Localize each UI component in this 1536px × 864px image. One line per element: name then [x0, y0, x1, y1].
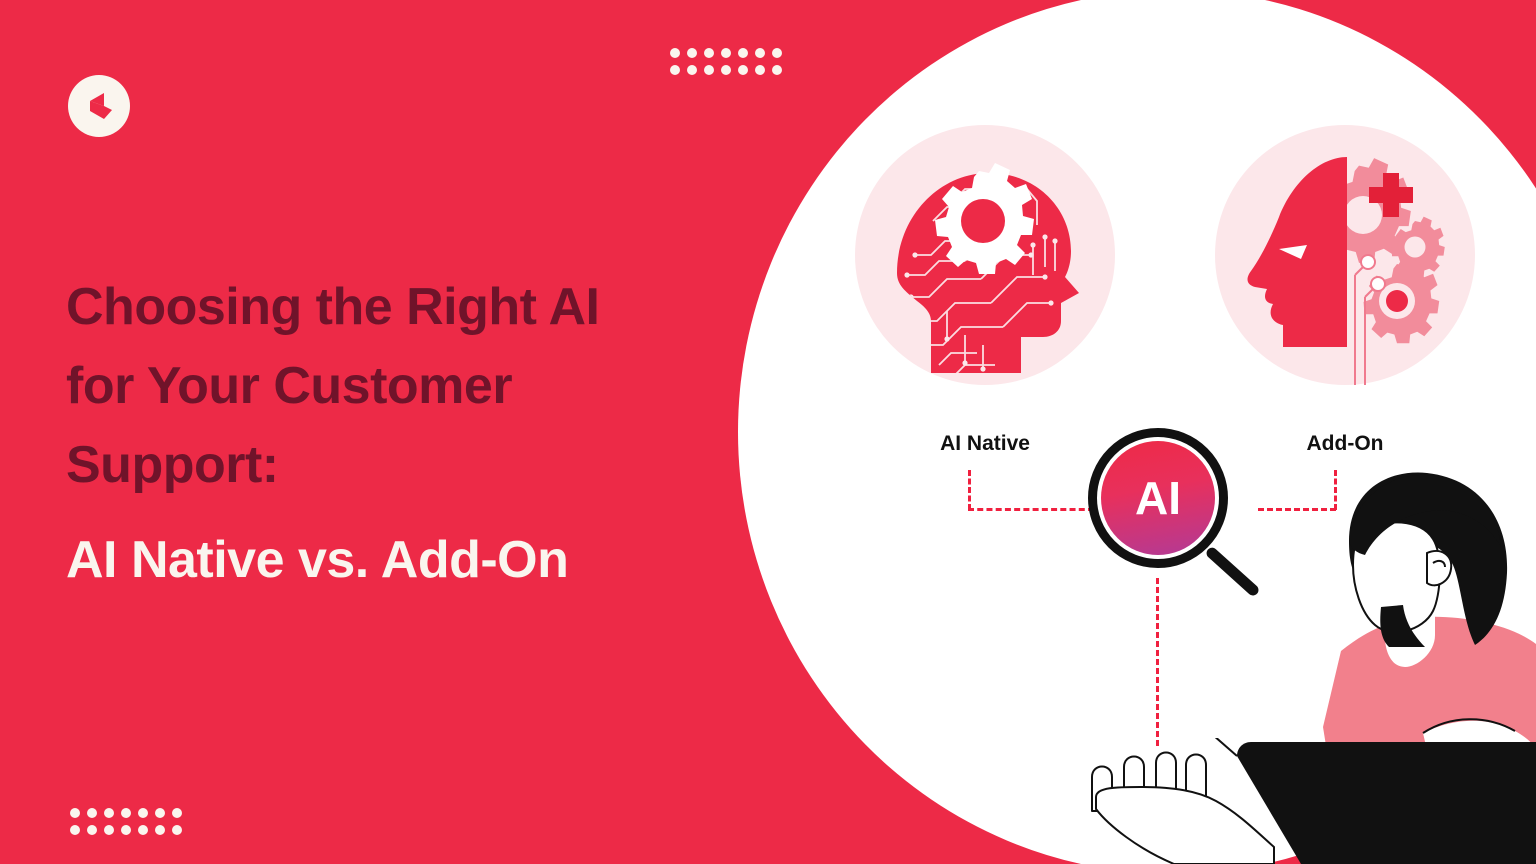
headline-subtitle: AI Native vs. Add-On [66, 529, 726, 591]
slide-canvas: Choosing the Right AI for Your Customer … [0, 0, 1536, 864]
dot-grid-bottom [70, 808, 189, 842]
bevy-logo-icon [82, 89, 116, 123]
headline-line-3: Support: [66, 426, 726, 505]
headline-line-2: for Your Customer [66, 347, 726, 426]
headline-line-1: Choosing the Right AI [66, 268, 726, 347]
brand-logo[interactable] [68, 75, 130, 137]
white-circle-panel [738, 0, 1536, 864]
dot-grid-top [670, 48, 789, 82]
page-title: Choosing the Right AI for Your Customer … [66, 268, 726, 591]
